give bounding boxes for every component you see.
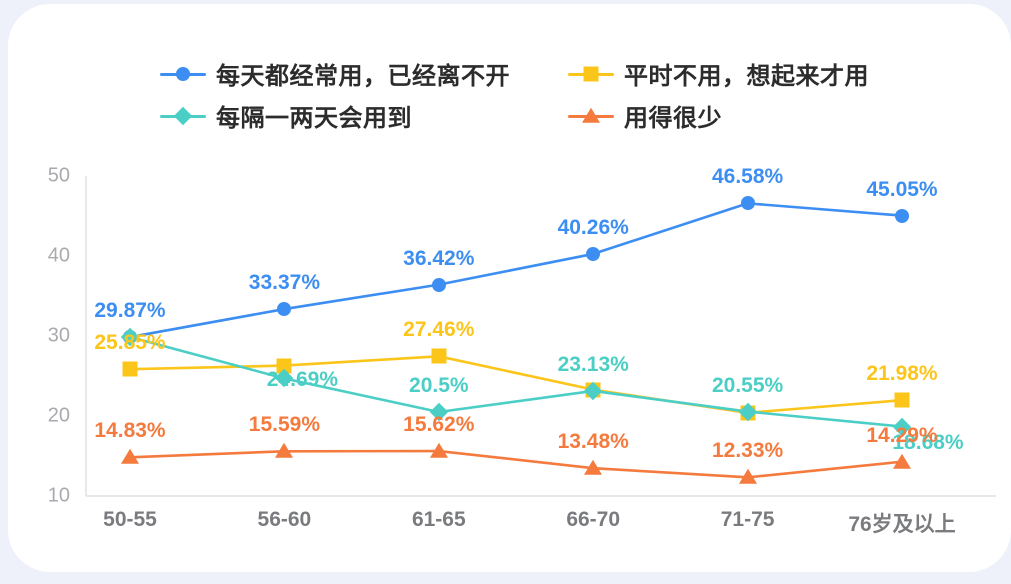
data-label: 46.58% — [712, 165, 783, 189]
data-label: 29.87% — [94, 299, 165, 323]
y-axis-tick: 20 — [24, 405, 70, 428]
chart-card: 每天都经常用，已经离不开 平时不用，想起来才用 每隔一两天会用到 用得很少 — [8, 4, 1011, 572]
data-point-circle[interactable] — [277, 302, 291, 316]
data-label: 20.5% — [409, 374, 469, 398]
data-point-square[interactable] — [123, 362, 138, 377]
data-label: 15.62% — [403, 413, 474, 437]
x-axis-tick: 76岁及以上 — [848, 508, 955, 538]
data-label: 14.83% — [94, 419, 165, 443]
data-point-triangle[interactable] — [430, 443, 448, 458]
data-label: 12.33% — [712, 439, 783, 463]
y-axis-tick-labels: 1020304050 — [24, 4, 70, 572]
data-label: 25.85% — [94, 331, 165, 355]
x-axis-tick: 66-70 — [566, 508, 620, 532]
data-point-square[interactable] — [895, 393, 910, 408]
data-point-circle[interactable] — [432, 278, 446, 292]
x-axis-tick: 50-55 — [103, 508, 157, 532]
data-label: 21.98% — [866, 362, 937, 386]
data-point-circle[interactable] — [895, 209, 909, 223]
y-axis-tick: 40 — [24, 245, 70, 268]
data-label: 15.59% — [249, 413, 320, 437]
data-label: 23.13% — [558, 353, 629, 377]
data-point-circle[interactable] — [741, 196, 755, 210]
data-point-triangle[interactable] — [584, 460, 602, 475]
x-axis-tick: 56-60 — [258, 508, 312, 532]
y-axis-tick: 50 — [24, 165, 70, 188]
data-label: 24.69% — [267, 368, 338, 392]
chart-plot-area: 1020304050 50-5556-6061-6566-7071-7576岁及… — [8, 4, 1011, 572]
data-label: 20.55% — [712, 374, 783, 398]
data-point-triangle[interactable] — [275, 443, 293, 458]
y-axis-tick: 30 — [24, 325, 70, 348]
data-point-triangle[interactable] — [893, 453, 911, 468]
data-point-triangle[interactable] — [121, 449, 139, 464]
data-label: 40.26% — [558, 216, 629, 240]
chart-svg — [8, 4, 1011, 572]
data-label: 27.46% — [403, 318, 474, 342]
data-point-triangle[interactable] — [739, 469, 757, 484]
x-axis-tick: 61-65 — [412, 508, 466, 532]
data-label: 45.05% — [866, 178, 937, 202]
y-axis-tick: 10 — [24, 485, 70, 508]
data-label: 33.37% — [249, 271, 320, 295]
data-point-circle[interactable] — [586, 247, 600, 261]
data-label: 13.48% — [558, 430, 629, 454]
data-label: 36.42% — [403, 247, 474, 271]
data-point-square[interactable] — [431, 349, 446, 364]
data-label: 14.29% — [866, 424, 937, 448]
x-axis-tick: 71-75 — [721, 508, 775, 532]
